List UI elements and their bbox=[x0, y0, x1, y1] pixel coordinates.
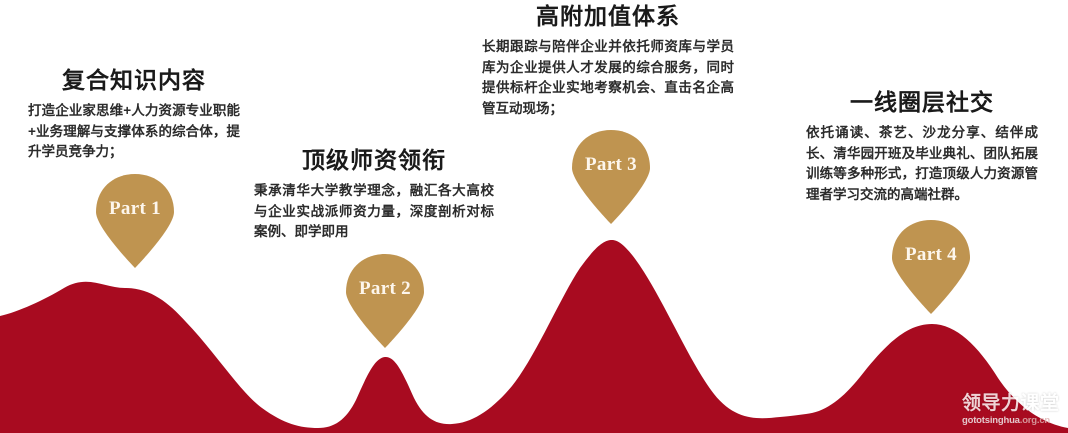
watermark: 领导力课堂 gototsinghua.org.cn bbox=[962, 394, 1066, 430]
pin-label-3: Part 3 bbox=[567, 154, 655, 176]
watermark-domain: gototsinghua.org.cn bbox=[962, 416, 1066, 426]
section-block-4: 一线圈层社交 依托诵读、茶艺、沙龙分享、结伴成长、清华园开班及毕业典礼、团队拓展… bbox=[806, 90, 1038, 206]
section-2-body: 秉承清华大学教学理念，融汇各大高校与企业实战派师资力量，深度剖析对标案例、即学即… bbox=[254, 181, 494, 243]
watermark-brand: 领导力课堂 bbox=[962, 394, 1066, 413]
map-pin-icon bbox=[567, 128, 655, 224]
section-4-body: 依托诵读、茶艺、沙龙分享、结伴成长、清华园开班及毕业典礼、团队拓展训练等多种形式… bbox=[806, 123, 1038, 205]
section-2-title: 顶级师资领衔 bbox=[254, 148, 494, 174]
map-pin-marker-2: Part 2 bbox=[341, 252, 429, 348]
section-3-body: 长期跟踪与陪伴企业并依托师资库与学员库为企业提供人才发展的综合服务，同时提供标杆… bbox=[482, 37, 734, 119]
map-pin-icon bbox=[341, 252, 429, 348]
section-block-2: 顶级师资领衔 秉承清华大学教学理念，融汇各大高校与企业实战派师资力量，深度剖析对… bbox=[254, 148, 494, 243]
pin-label-4: Part 4 bbox=[887, 244, 975, 266]
watermark-domain-name: gototsinghua bbox=[962, 415, 1020, 426]
section-block-1: 复合知识内容 打造企业家思维+人力资源专业职能+业务理解与支撑体系的综合体，提升… bbox=[28, 68, 240, 163]
infographic-canvas: 复合知识内容 打造企业家思维+人力资源专业职能+业务理解与支撑体系的综合体，提升… bbox=[0, 0, 1068, 433]
pin-label-2: Part 2 bbox=[341, 278, 429, 300]
map-pin-marker-4: Part 4 bbox=[887, 218, 975, 314]
map-pin-marker-1: Part 1 bbox=[91, 172, 179, 268]
section-4-title: 一线圈层社交 bbox=[806, 90, 1038, 116]
map-pin-marker-3: Part 3 bbox=[567, 128, 655, 224]
section-block-3: 高附加值体系 长期跟踪与陪伴企业并依托师资库与学员库为企业提供人才发展的综合服务… bbox=[482, 4, 734, 120]
map-pin-icon bbox=[91, 172, 179, 268]
pin-label-1: Part 1 bbox=[91, 198, 179, 220]
map-pin-icon bbox=[887, 218, 975, 314]
section-1-title: 复合知识内容 bbox=[28, 68, 240, 94]
watermark-domain-tld: .org.cn bbox=[1020, 415, 1050, 426]
section-1-body: 打造企业家思维+人力资源专业职能+业务理解与支撑体系的综合体，提升学员竞争力； bbox=[28, 101, 240, 163]
section-3-title: 高附加值体系 bbox=[482, 4, 734, 30]
